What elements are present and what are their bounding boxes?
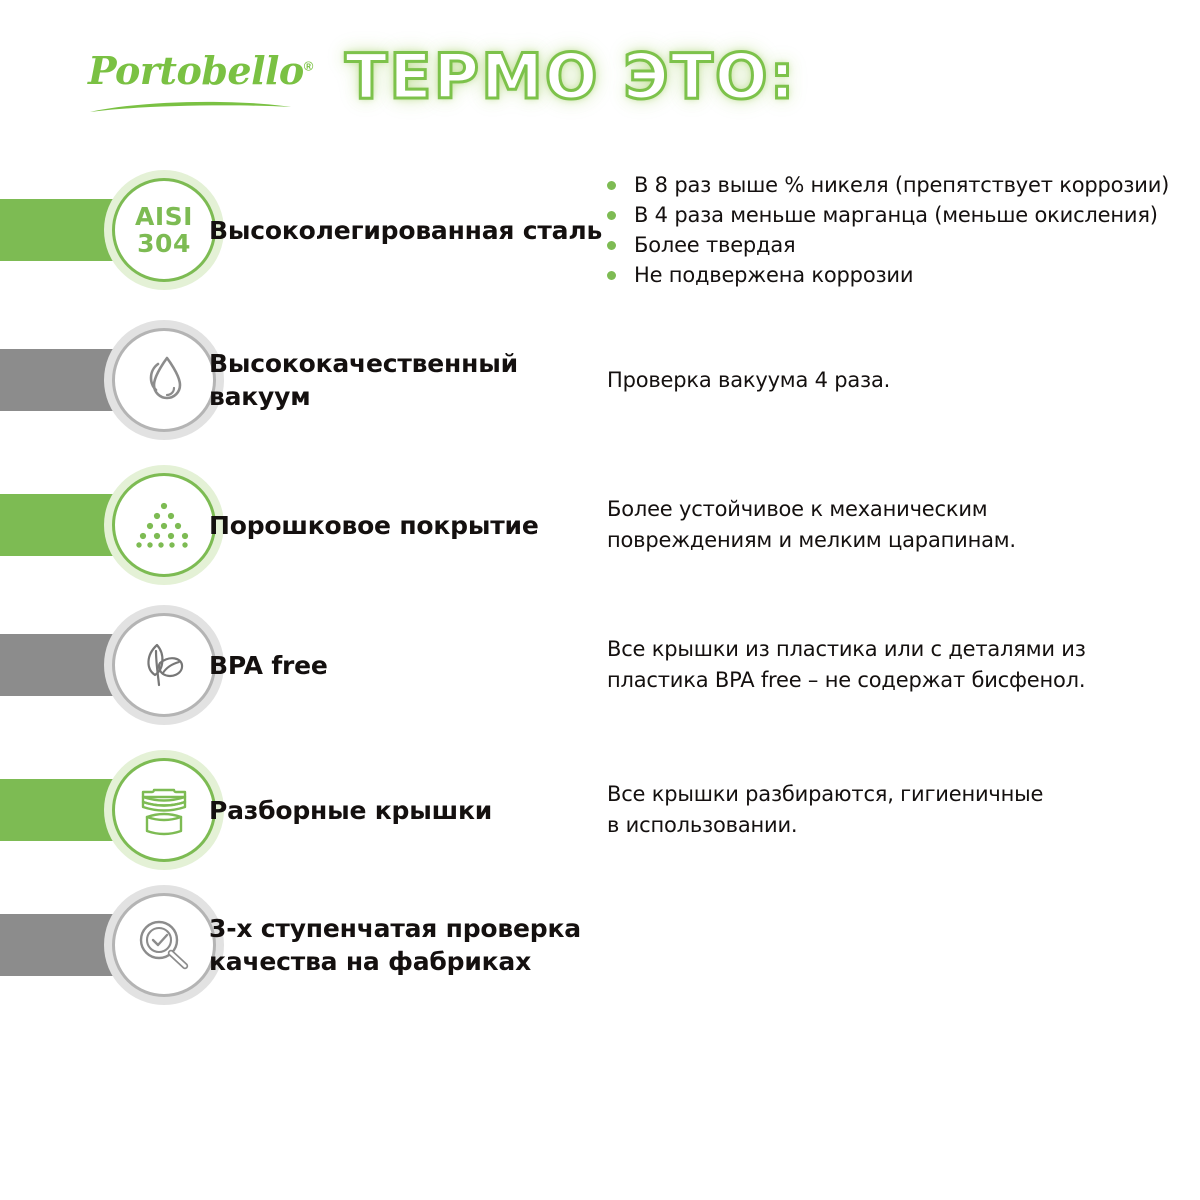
- feature-description: Все крышки разбираются, гигиеничные в ис…: [607, 750, 1182, 870]
- header: Portobello® ТЕРМО ЭТО:: [0, 0, 1200, 160]
- aisi-304-badge-icon: AISI 304: [135, 203, 193, 257]
- description-line: в использовании.: [607, 810, 1182, 841]
- list-item: В 8 раз выше % никеля (препятствует корр…: [607, 170, 1182, 200]
- feature-description: [607, 885, 1182, 1005]
- badge-quality-check: [104, 885, 224, 1005]
- benefit-list: В 8 раз выше % никеля (препятствует корр…: [607, 170, 1182, 290]
- badge-aisi-304: AISI 304: [104, 170, 224, 290]
- badge-detachable-lids: [104, 750, 224, 870]
- detachable-lid-icon: [133, 779, 195, 841]
- logo-swoosh-icon: [88, 98, 293, 114]
- description-line: пластика BPA free – не содержат бисфенол…: [607, 665, 1182, 696]
- feature-row-vacuum: Высококачественный вакуум Проверка вакуу…: [0, 320, 1200, 440]
- feature-title-block: Разборные крышки: [209, 750, 609, 870]
- brand-logo: Portobello®: [88, 52, 308, 124]
- description-line: Все крышки разбираются, гигиеничные: [607, 779, 1182, 810]
- feature-title: Высококачественный вакуум: [209, 347, 609, 413]
- badge-powder-coating: [104, 465, 224, 585]
- bullet-dot-icon: [607, 181, 616, 190]
- feature-title-block: BPA free: [209, 605, 609, 725]
- list-item: Не подвержена коррозии: [607, 260, 1182, 290]
- feature-title: 3-х ступенчатая проверка: [209, 912, 609, 945]
- feature-description: Все крышки из пластика или с деталями из…: [607, 605, 1182, 725]
- feature-title: BPA free: [209, 649, 609, 682]
- description-line: повреждениям и мелким царапинам.: [607, 525, 1182, 556]
- feature-description: Более устойчивое к механическим поврежде…: [607, 465, 1182, 585]
- bullet-dot-icon: [607, 241, 616, 250]
- feature-title-block: Порошковое покрытие: [209, 465, 609, 585]
- feature-row-powder-coating: Порошковое покрытие Более устойчивое к м…: [0, 465, 1200, 585]
- bullet-dot-icon: [607, 271, 616, 280]
- feature-description: В 8 раз выше % никеля (препятствует корр…: [607, 170, 1182, 290]
- list-item: В 4 раза меньше марганца (меньше окислен…: [607, 200, 1182, 230]
- feature-row-bpa-free: BPA free Все крышки из пластика или с де…: [0, 605, 1200, 725]
- description-line: Все крышки из пластика или с деталями из: [607, 634, 1182, 665]
- description-line: Более устойчивое к механическим: [607, 494, 1182, 525]
- feature-title-block: Высококачественный вакуум: [209, 320, 609, 440]
- feature-title: Порошковое покрытие: [209, 509, 609, 542]
- bullet-dot-icon: [607, 211, 616, 220]
- badge-bpa-free: [104, 605, 224, 725]
- feature-title-block: Высоколегированная сталь: [209, 170, 609, 290]
- infographic-page: Portobello® ТЕРМО ЭТО: AISI 304 Высоколе…: [0, 0, 1200, 1200]
- feature-title: качества на фабриках: [209, 945, 609, 978]
- list-item: Более твердая: [607, 230, 1182, 260]
- powder-dots-icon: [135, 498, 193, 552]
- feature-title: Высоколегированная сталь: [209, 214, 609, 247]
- page-title: ТЕРМО ЭТО:: [345, 46, 796, 108]
- feature-row-quality-check: 3-х ступенчатая проверка качества на фаб…: [0, 885, 1200, 1005]
- feature-title-block: 3-х ступенчатая проверка качества на фаб…: [209, 885, 609, 1005]
- magnifier-check-icon: [133, 914, 195, 976]
- description-line: Проверка вакуума 4 раза.: [607, 365, 1182, 396]
- registered-mark-icon: ®: [304, 58, 313, 73]
- feature-row-steel: AISI 304 Высоколегированная сталь В 8 ра…: [0, 170, 1200, 290]
- feature-title: Разборные крышки: [209, 794, 609, 827]
- leaf-icon: [134, 635, 194, 695]
- badge-vacuum: [104, 320, 224, 440]
- feature-description: Проверка вакуума 4 раза.: [607, 320, 1182, 440]
- feature-row-detachable-lids: Разборные крышки Все крышки разбираются,…: [0, 750, 1200, 870]
- water-drop-icon: [134, 350, 194, 410]
- brand-name: Portobello®: [88, 52, 308, 90]
